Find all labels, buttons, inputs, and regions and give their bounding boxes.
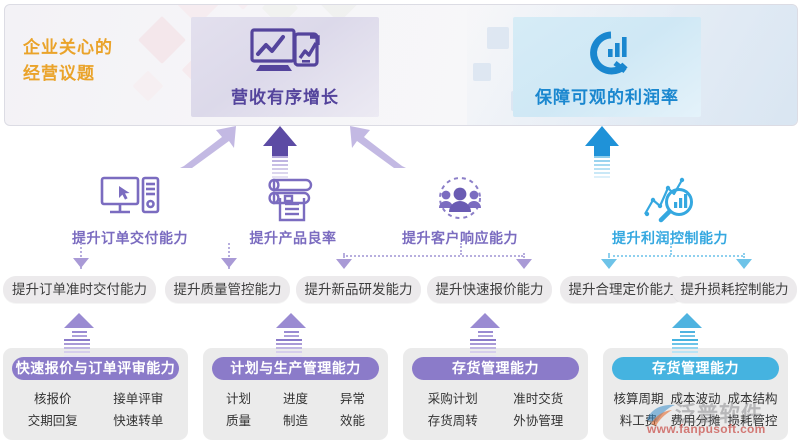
connector-arrowhead [336,259,352,269]
panel-quotation-order-review[interactable]: 快速报价与订单评审能力 核报价 接单评审 交期回复 快速转单 [3,348,188,440]
pill-quality-control[interactable]: 提升质量管控能力 [165,276,290,303]
panel-item: 制造 [268,410,323,429]
document-scroll-icon [228,172,358,224]
panel-item: 损耗管控 [725,410,780,429]
connector-arrowhead [73,258,89,268]
panel-item: 进度 [268,388,323,407]
donut-bar-chart-icon [513,25,701,81]
capability-label: 提升产品良率 [228,228,358,248]
panel-title: 快速报价与订单评审能力 [12,357,179,380]
panel-item: 费用分摊 [668,410,723,429]
panel-items: 计划 进度 异常 质量 制造 效能 [211,388,380,429]
panel-item: 料工费 [611,410,666,429]
capability-product-yield[interactable]: 提升产品良率 [228,172,358,248]
panel-stripe-3 [470,339,496,359]
panel-item: 存货周转 [411,410,495,429]
connector-dotted-fork-purple [343,255,523,257]
connector-arrowhead [516,259,532,269]
pill-fast-quotation[interactable]: 提升快速报价能力 [427,276,552,303]
connector-arrowhead [736,259,752,269]
panel-item: 核算周期 [611,388,666,407]
band-title: 企业关心的 经营议题 [23,35,113,87]
panel-item: 采购计划 [411,388,495,407]
panel-item: 核报价 [11,388,95,407]
panel-inventory-management-purple[interactable]: 存货管理能力 采购计划 准时交货 存货周转 外协管理 [403,348,588,440]
panel-item: 质量 [211,410,266,429]
pill-new-product-rnd[interactable]: 提升新品研发能力 [296,276,421,303]
capability-label: 提升订单交付能力 [55,228,205,248]
magnifier-analytics-icon [595,172,745,224]
panel-item: 交期回复 [11,410,95,429]
connector-arrowhead [601,259,617,269]
panel-item: 快速转单 [97,410,181,429]
panel-item: 成本波动 [668,388,723,407]
panel-title: 存货管理能力 [612,357,779,380]
band-title-line2: 经营议题 [23,61,113,87]
header-band: 企业关心的 经营议题 营收有序增长 [4,4,798,126]
panel-items: 核算周期 成本波动 成本结构 料工费 费用分摊 损耗管控 [611,388,780,429]
panel-items: 采购计划 准时交货 存货周转 外协管理 [411,388,580,429]
panel-title: 存货管理能力 [412,357,579,380]
panel-title: 计划与生产管理能力 [212,357,379,380]
arrow-diagonal-right-to-revenue [348,124,408,175]
panel-item: 准时交货 [497,388,581,407]
customer-group-icon [385,172,535,224]
panel-item: 计划 [211,388,266,407]
panel-stripe-1 [64,339,90,359]
pill-reasonable-pricing[interactable]: 提升合理定价能力 [560,276,685,303]
hero-label-revenue-growth: 营收有序增长 [191,83,379,108]
capability-profit-control[interactable]: 提升利润控制能力 [595,172,745,248]
panel-items: 核报价 接单评审 交期回复 快速转单 [11,388,180,429]
connector-dotted-profit-control [670,243,672,255]
hero-card-revenue-growth[interactable]: 营收有序增长 [191,17,379,117]
monitor-chart-icon [191,25,379,81]
panel-item: 接单评审 [97,388,181,407]
panel-item: 成本结构 [725,388,780,407]
panel-item: 异常 [325,388,380,407]
capability-customer-response[interactable]: 提升客户响应能力 [385,172,535,248]
panel-inventory-management-blue[interactable]: 存货管理能力 核算周期 成本波动 成本结构 料工费 费用分摊 损耗管控 [603,348,788,440]
connector-dotted-customer-response [460,243,462,255]
connector-dotted-fork-blue [608,255,743,257]
arrow-diagonal-left-to-revenue [178,124,238,175]
hero-label-profit-rate: 保障可观的利润率 [513,83,701,108]
panel-planning-production[interactable]: 计划与生产管理能力 计划 进度 异常 质量 制造 效能 [203,348,388,440]
panel-stripe-2 [276,339,302,359]
infographic-canvas: 企业关心的 经营议题 营收有序增长 [0,0,800,448]
band-title-line1: 企业关心的 [23,35,113,61]
desktop-computer-icon [55,172,205,224]
hero-card-profit-rate[interactable]: 保障可观的利润率 [513,17,701,117]
panel-item: 外协管理 [497,410,581,429]
panel-item: 效能 [325,410,380,429]
pill-order-on-time-delivery[interactable]: 提升订单准时交付能力 [3,276,156,303]
panel-stripe-4 [672,339,698,359]
capability-order-delivery[interactable]: 提升订单交付能力 [55,172,205,248]
pill-loss-control[interactable]: 提升损耗控制能力 [672,276,797,303]
connector-arrowhead [221,258,237,268]
